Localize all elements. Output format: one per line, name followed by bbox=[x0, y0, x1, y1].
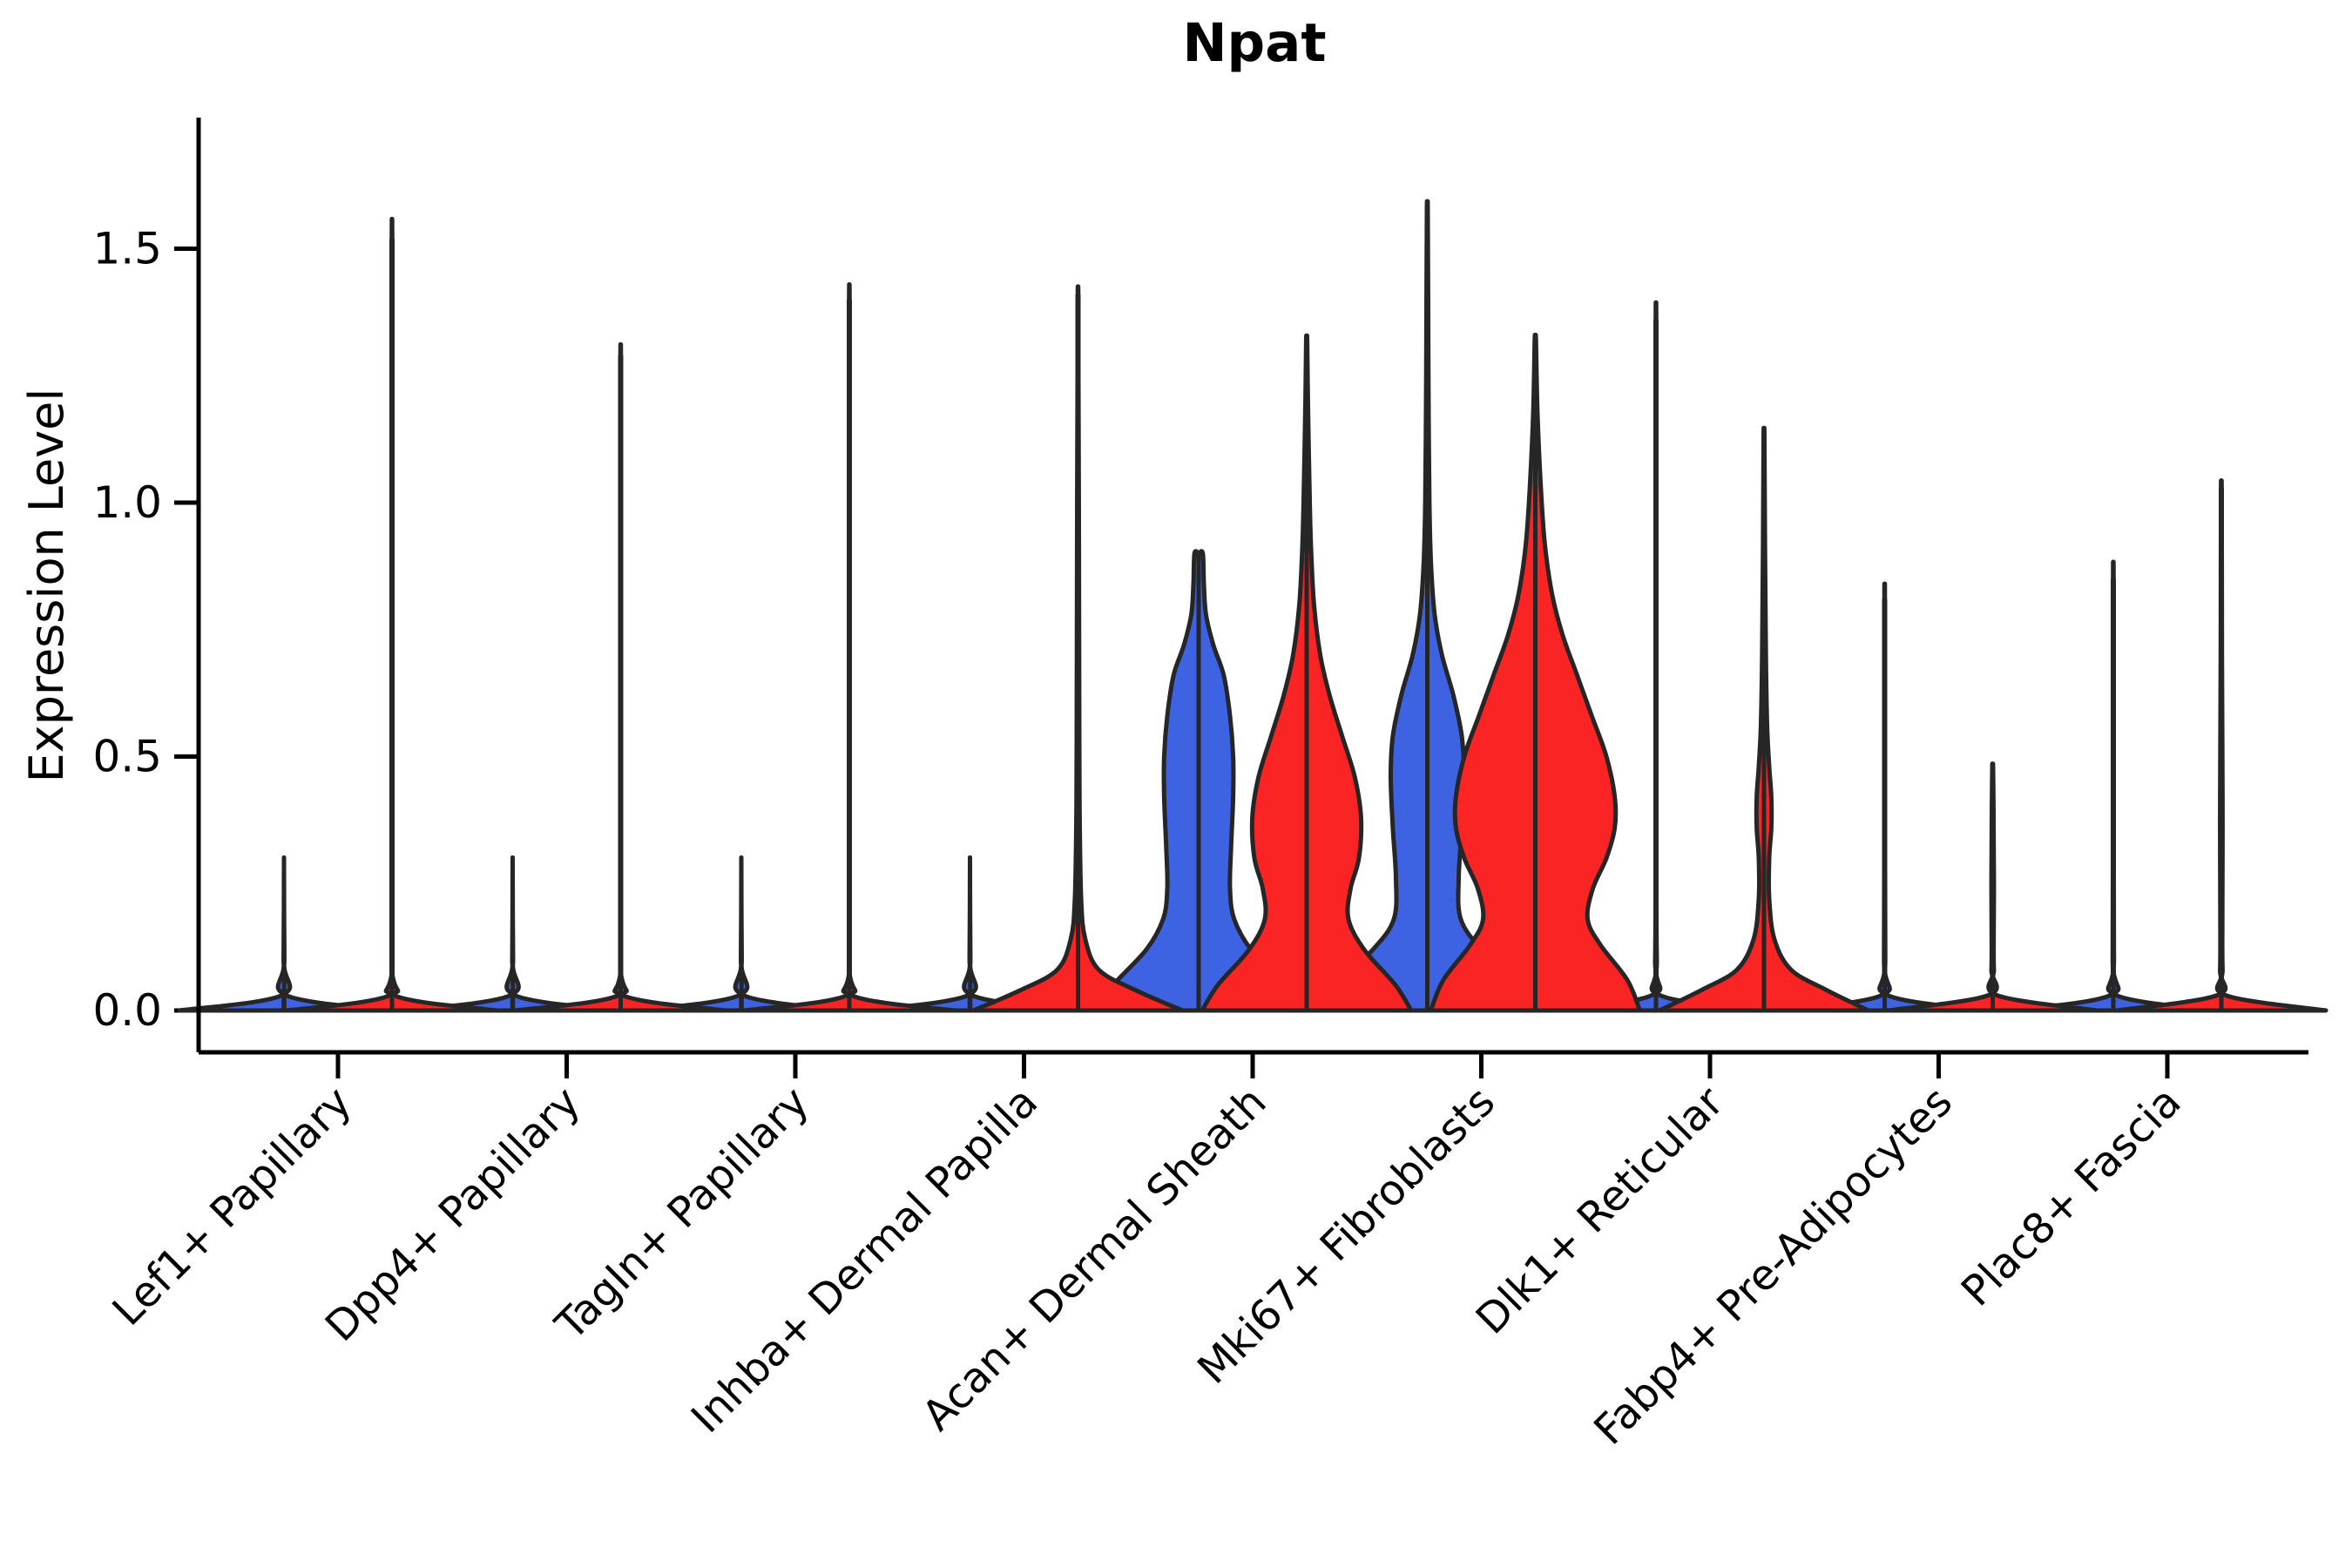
violin-body-inner bbox=[1889, 764, 1997, 1010]
violin-plot-figure: Npat Expression Level 0.00.51.01.5 Lef1+… bbox=[0, 0, 2352, 1568]
violin-body-inner bbox=[974, 287, 1078, 1010]
y-tick-label: 1.5 bbox=[92, 224, 162, 274]
violin-group_a bbox=[409, 857, 618, 1010]
x-tick-label: Plac8+ Fascia bbox=[1952, 1078, 2191, 1316]
violin-body-inner bbox=[517, 344, 627, 1010]
violin-body-outer bbox=[637, 857, 747, 1010]
x-tick-label: TagIn+ Papillary bbox=[546, 1078, 819, 1350]
violin-body-inner bbox=[507, 857, 618, 1010]
violin-body-outer bbox=[615, 344, 726, 1010]
violin-group_a bbox=[179, 857, 389, 1010]
y-tick-label: 0.0 bbox=[92, 985, 162, 1036]
x-tick-label: Dlk1+ Reticular bbox=[1467, 1078, 1734, 1344]
violin-body-outer bbox=[1094, 551, 1199, 1010]
violin-plot-canvas: Npat Expression Level 0.00.51.01.5 Lef1+… bbox=[0, 0, 2352, 1568]
x-tick-label-group: TagIn+ Papillary bbox=[546, 1078, 819, 1350]
violin-body-outer bbox=[386, 219, 497, 1010]
violin-body-outer bbox=[2009, 562, 2119, 1010]
y-tick-label: 0.5 bbox=[92, 732, 162, 782]
y-axis-ticks: 0.00.51.01.5 bbox=[92, 224, 199, 1037]
violin-shapes-layer bbox=[179, 201, 2326, 1010]
violin-group_b bbox=[517, 344, 726, 1010]
violin-group_b bbox=[1431, 335, 1640, 1010]
violin-body-outer bbox=[1989, 764, 2098, 1010]
violin-body-inner bbox=[287, 219, 398, 1010]
violin-body-inner bbox=[2108, 562, 2218, 1010]
violin-body-outer bbox=[2217, 481, 2326, 1010]
violin-group_a bbox=[637, 857, 846, 1010]
violin-group_a bbox=[1781, 584, 1990, 1010]
violin-group_a bbox=[2009, 562, 2218, 1010]
violin-group_b bbox=[2117, 481, 2326, 1010]
violin-body-inner bbox=[735, 857, 846, 1010]
x-tick-label-group: Dpp4+ Papillary bbox=[316, 1078, 590, 1351]
violin-group_b bbox=[1659, 428, 1869, 1010]
x-tick-label: Dpp4+ Papillary bbox=[316, 1078, 590, 1351]
violin-body-inner bbox=[278, 857, 389, 1010]
x-tick-label: Lef1+ Papillary bbox=[104, 1078, 362, 1335]
x-tick-label-group: Lef1+ Papillary bbox=[104, 1078, 362, 1335]
y-axis-label: Expression Level bbox=[19, 389, 74, 783]
violin-body-inner bbox=[1659, 428, 1764, 1010]
violin-group_b bbox=[287, 219, 497, 1010]
violin-body-outer bbox=[409, 857, 519, 1010]
chart-title: Npat bbox=[1182, 12, 1326, 74]
violin-group_b bbox=[745, 285, 954, 1010]
x-axis-ticks: Lef1+ PapillaryDpp4+ PapillaryTagIn+ Pap… bbox=[104, 1052, 2191, 1455]
violin-body-outer bbox=[1764, 428, 1869, 1010]
y-tick-label: 1.0 bbox=[92, 477, 162, 528]
violin-body-outer bbox=[179, 857, 290, 1010]
violin-body-inner bbox=[2117, 481, 2226, 1010]
violin-body-outer bbox=[843, 285, 954, 1010]
violin-body-outer bbox=[1536, 335, 1640, 1010]
violin-body-inner bbox=[1652, 302, 1761, 1010]
x-tick-label-group: Dlk1+ Reticular bbox=[1467, 1078, 1734, 1344]
x-tick-label-group: Plac8+ Fascia bbox=[1952, 1078, 2191, 1316]
violin-body-inner bbox=[1880, 584, 1990, 1010]
violin-group_b bbox=[1889, 764, 2098, 1010]
violin-body-inner bbox=[745, 285, 855, 1010]
violin-body-outer bbox=[1781, 584, 1890, 1010]
violin-group_b bbox=[974, 287, 1183, 1010]
violin-body-outer bbox=[866, 857, 977, 1010]
